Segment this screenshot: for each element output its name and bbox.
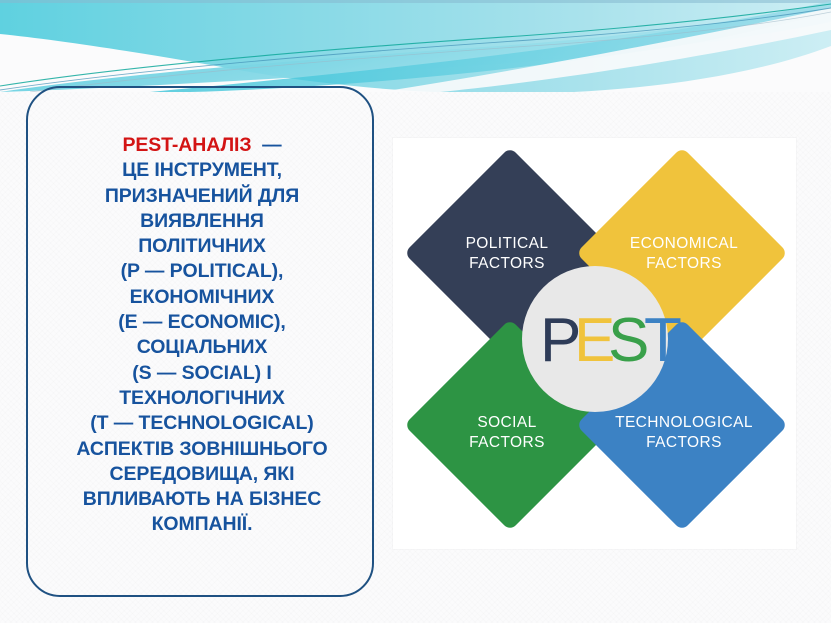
description-heading-line: PEST-АНАЛІЗ —	[34, 133, 370, 158]
economical-label-line2: FACTORS	[646, 255, 722, 272]
political-label-line2: FACTORS	[469, 255, 545, 272]
pest-diagram-figure: POLITICAL FACTORS ECONOMICAL FACTORS SOC…	[401, 144, 791, 544]
description-line-1: ЦЕ ІНСТРУМЕНТ,	[34, 158, 370, 183]
description-line-15: КОМПАНІЇ.	[34, 512, 370, 537]
technological-label-line1: TECHNOLOGICAL	[615, 414, 753, 431]
social-label-line1: SOCIAL	[477, 414, 536, 431]
description-line-14: ВПЛИВАЮТЬ НА БІЗНЕС	[34, 487, 370, 512]
social-label-line2: FACTORS	[469, 434, 545, 451]
technological-label-line2: FACTORS	[646, 434, 722, 451]
description-line-4: ПОЛІТИЧНИХ	[34, 234, 370, 259]
heading-dash: —	[262, 134, 281, 156]
description-line-6: ЕКОНОМІЧНИХ	[34, 285, 370, 310]
description-line-11: (T — TECHNOLOGICAL)	[34, 411, 370, 436]
economical-label-line1: ECONOMICAL	[630, 235, 738, 252]
slide-canvas: PEST-АНАЛІЗ — ЦЕ ІНСТРУМЕНТ, ПРИЗНАЧЕНИЙ…	[0, 0, 831, 623]
description-line-10: ТЕХНОЛОГІЧНИХ	[34, 386, 370, 411]
pest-diagram-panel: POLITICAL FACTORS ECONOMICAL FACTORS SOC…	[393, 138, 796, 549]
description-text-card: PEST-АНАЛІЗ — ЦЕ ІНСТРУМЕНТ, ПРИЗНАЧЕНИЙ…	[26, 86, 374, 597]
description-line-3: ВИЯВЛЕННЯ	[34, 209, 370, 234]
description-line-8: СОЦІАЛЬНИХ	[34, 335, 370, 360]
description-line-13: СЕРЕДОВИЩА, ЯКІ	[34, 462, 370, 487]
description-line-9: (S — SOCIAL) І	[34, 361, 370, 386]
description-line-2: ПРИЗНАЧЕНИЙ ДЛЯ	[34, 184, 370, 209]
description-line-7: (E — ECONOMIC),	[34, 310, 370, 335]
description-text: PEST-АНАЛІЗ — ЦЕ ІНСТРУМЕНТ, ПРИЗНАЧЕНИЙ…	[28, 133, 376, 538]
description-line-12: АСПЕКТІВ ЗОВНІШНЬОГО	[34, 437, 370, 462]
pest-letter-t: T	[644, 306, 682, 375]
description-line-5: (P — POLITICAL),	[34, 259, 370, 284]
pest-analysis-heading: PEST-АНАЛІЗ	[122, 134, 251, 156]
political-label-line1: POLITICAL	[466, 235, 549, 252]
decorative-wave-banner	[0, 0, 831, 92]
